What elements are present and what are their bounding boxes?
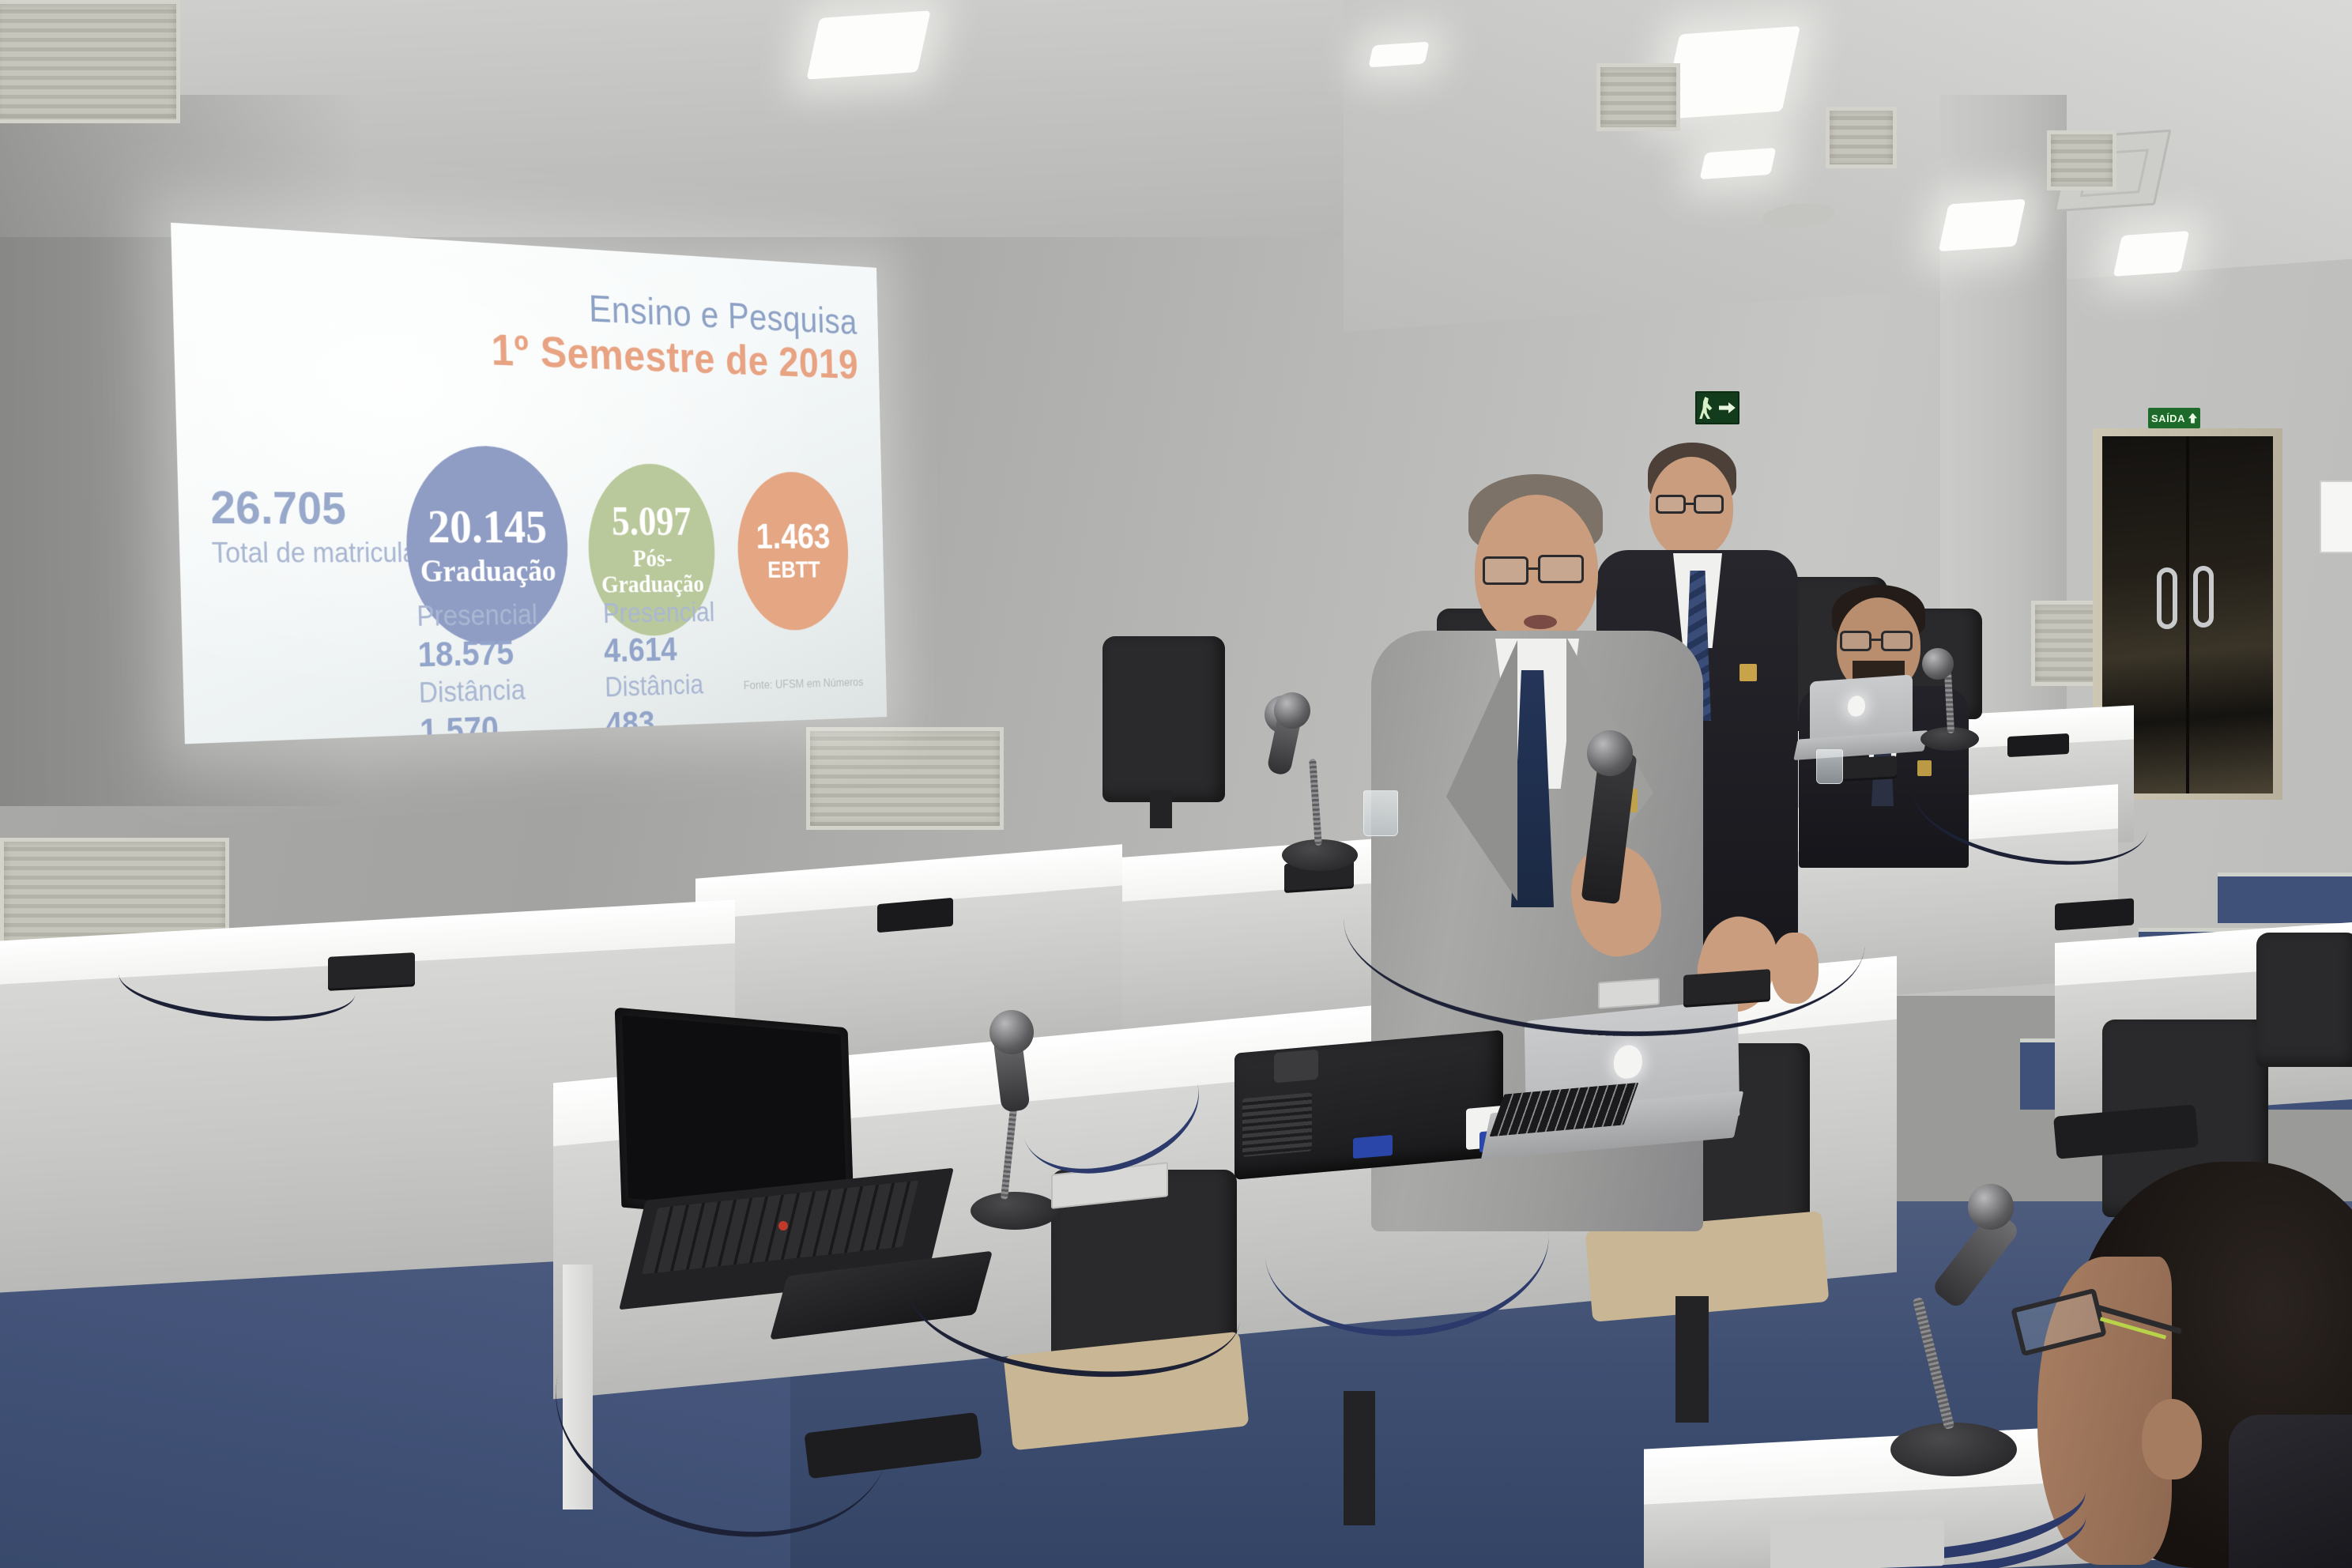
bubble-ebtt: 1.463 EBTT [736,471,850,631]
bubble-graduacao-label: Graduação [420,555,556,588]
microphone-head [989,1010,1034,1054]
chair-post [1344,1391,1375,1525]
wall-air-vent [1596,63,1680,131]
ceiling-light [1368,42,1429,68]
bubble-ebtt-label: EBTT [767,558,820,583]
wall-air-vent [2047,130,2116,190]
glasses [1694,495,1724,514]
chair-back[interactable] [2256,933,2352,1067]
door-handle-right[interactable] [2193,566,2214,628]
ceiling-light [1700,148,1777,179]
wall-air-vent [1826,107,1897,168]
conference-room-scene: SAÍDA Ensino e Pesquisa 1º Semestre de 2… [0,0,2352,1568]
glasses-bridge [1871,639,1883,641]
glasses-bridge [1686,503,1695,505]
running-figure-icon [1699,397,1714,419]
mouth [1524,615,1557,629]
slide-title-block: Ensino e Pesquisa 1º Semestre de 2019 [489,283,858,388]
water-glass[interactable] [1816,749,1843,784]
projector-lens [1274,1050,1318,1084]
microphone-base [971,1192,1059,1230]
presencial-value: 18.575 [417,631,539,674]
ceiling-light [1661,26,1800,119]
bubble-ebtt-value: 1.463 [756,519,831,554]
arrow-up-icon [2188,413,2197,424]
bubble-graduacao-value: 20.145 [427,503,547,551]
door-handle-left[interactable] [2157,567,2177,629]
glasses [1483,556,1528,585]
apple-logo-icon [1613,1044,1642,1080]
microphone-head [1274,692,1310,729]
glasses [1840,631,1871,651]
arrow-right-icon [1719,401,1736,415]
microphone-head [1922,648,1954,680]
breakdown-column-graduacao: Presencial 18.575 Distância 1.570 [416,600,541,744]
ceiling-light [1939,199,2026,252]
projected-slide: Ensino e Pesquisa 1º Semestre de 2019 26… [171,223,887,744]
distancia-label: Distância [418,674,539,710]
water-glass[interactable] [1363,790,1398,836]
chair-post [1675,1296,1709,1423]
presencial-label: Presencial [416,600,538,634]
lapel-pin [1739,664,1757,681]
ceiling-light [806,10,930,79]
glasses [1656,495,1686,514]
chair-back[interactable] [1102,636,1225,802]
ceiling-light [2113,231,2190,277]
ear [2142,1399,2202,1479]
apple-logo-icon [1848,695,1865,718]
presencial-label: Presencial [603,597,715,631]
microphone-connector-box[interactable] [1841,756,1897,779]
glasses-bridge [1527,567,1540,570]
chair-post [1150,790,1172,828]
distancia-label: Distância [605,669,717,704]
tablet-device[interactable] [2055,899,2134,931]
wall-air-vent [0,0,180,123]
saida-label: SAÍDA [2151,413,2185,424]
trackpoint-icon [778,1221,788,1231]
breakdown-column-pos-graduacao: Presencial 4.614 Distância 483 [603,597,718,744]
wall-notice-frame [2320,481,2352,553]
saida-exit-sign: SAÍDA [2148,408,2200,428]
bubble-pos-graduacao-label: Pós-Graduação [589,546,716,598]
glasses [1538,555,1584,583]
presencial-value: 4.614 [604,628,716,669]
door-mullion [2186,436,2189,793]
step [2218,873,2352,923]
wall-air-vent [806,727,1004,830]
tablet-device[interactable] [1770,1518,1944,1568]
person-partial-shoulder [2229,1415,2352,1568]
glasses [1881,631,1913,651]
tablet-device[interactable] [2007,733,2069,757]
bubble-pos-graduacao-value: 5.097 [611,502,692,542]
microphone-head [1587,730,1633,776]
microphone-head [1968,1184,2014,1230]
projector-vent [1242,1092,1312,1157]
exit-sign [1695,391,1739,424]
